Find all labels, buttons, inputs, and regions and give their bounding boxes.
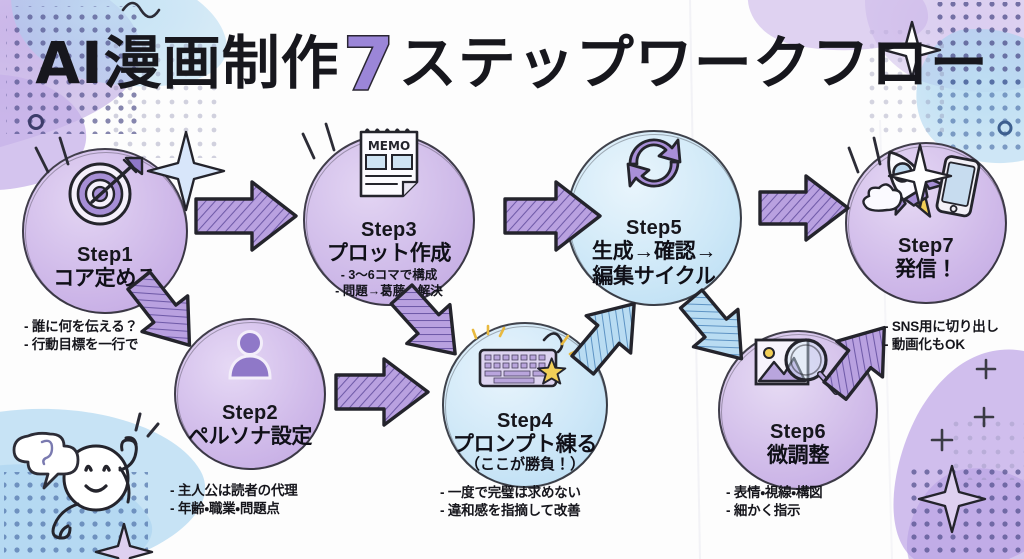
title-seven: 7 — [344, 22, 395, 106]
arrow-5-7 — [760, 176, 848, 240]
step4-bullets: - 一度で完璧は求めない - 違和感を指摘して改善 — [440, 484, 581, 520]
step4-bullet-1: - 一度で完璧は求めない — [440, 484, 581, 502]
step6-bullet-1: - 表情・視線・構図 — [726, 484, 822, 502]
infographic-canvas: AI漫画制作7ステップワークフロー Step1 コア定める - 誰に何を伝える？… — [0, 0, 1024, 559]
mascot-figure — [8, 408, 198, 558]
step4-bullet-2: - 違和感を指摘して改善 — [440, 502, 581, 520]
step7-bullet-1: - SNS用に切り出し — [884, 318, 999, 336]
step6-bullet-2: - 細かく指示 — [726, 502, 822, 520]
arrow-1-3 — [196, 182, 296, 250]
mascot-motion-lines — [136, 414, 158, 436]
title-tail: ステップワークフロー — [399, 29, 989, 97]
title-lead: AI漫画制作 — [35, 29, 339, 97]
page-title: AI漫画制作7ステップワークフロー — [0, 16, 1024, 106]
step7-bullet-2: - 動画化もOK — [884, 336, 999, 354]
arrow-3-5 — [505, 182, 600, 250]
arrow-2-4 — [336, 359, 428, 425]
step1-bullets: - 誰に何を伝える？ - 行動目標を一行で — [24, 318, 138, 354]
arrow-5-6 — [669, 280, 764, 377]
arrow-3-4 — [380, 275, 477, 373]
arrow-4-5 — [561, 285, 657, 384]
step6-bullets: - 表情・視線・構図 - 細かく指示 — [726, 484, 822, 520]
step1-bullet-1: - 誰に何を伝える？ — [24, 318, 138, 336]
step7-bullets: - SNS用に切り出し - 動画化もOK — [884, 318, 999, 354]
step1-bullet-2: - 行動目標を一行で — [24, 336, 138, 354]
